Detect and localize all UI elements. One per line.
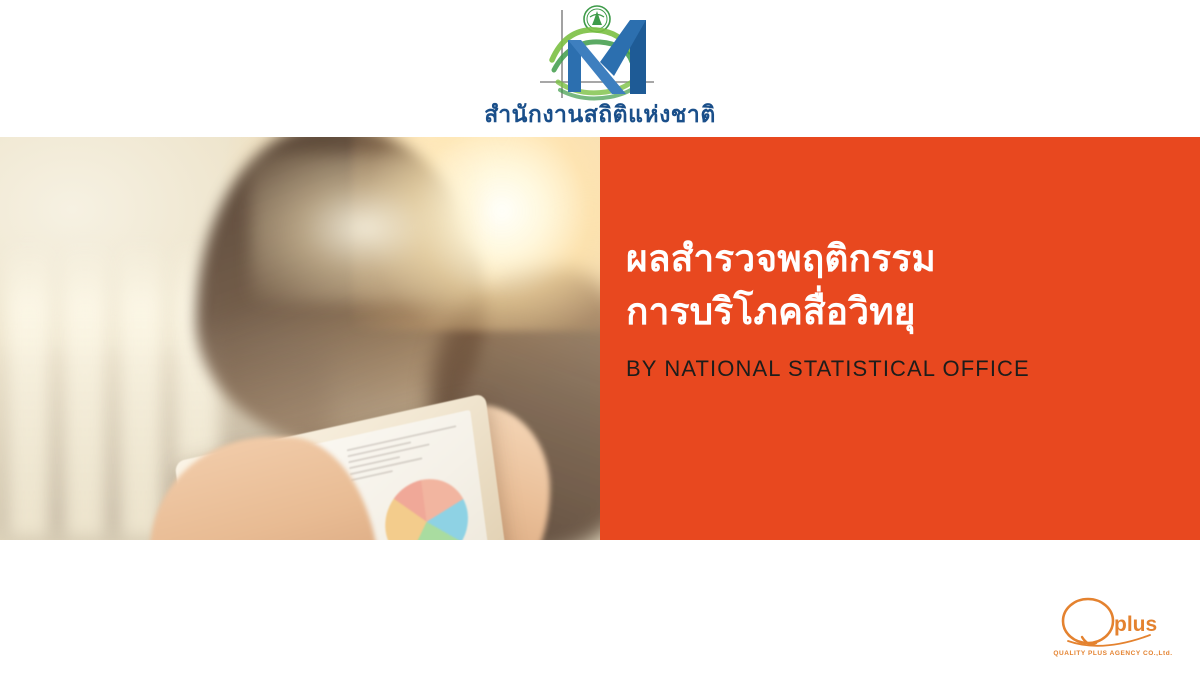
photo-sun-flare [250,153,480,303]
title-line-1: ผลสำรวจพฤติกรรม [626,233,1200,286]
title-line-2: การบริโภคสื่อวิทยุ [626,286,1200,339]
photo-blur-column [6,240,52,540]
title-subtitle: BY NATIONAL STATISTICAL OFFICE [626,356,1200,382]
nso-logo-wordmark: สำนักงานสถิติแห่งชาติ [484,104,716,127]
svg-text:plus: plus [1114,613,1157,636]
title-panel: ผลสำรวจพฤติกรรม การบริโภคสื่อวิทยุ BY NA… [600,137,1200,540]
photo-blur-column [62,240,108,540]
tablet-business-report-photo: Business Report [0,137,600,540]
nso-logo-icon [534,4,666,106]
photo-blur-column [118,240,164,540]
qplus-tagline: QUALITY PLUS AGENCY CO.,Ltd. [1044,650,1182,657]
title-slide: สำนักงานสถิติแห่งชาติ Business Report [0,0,1200,675]
tablet-data-table [347,425,461,485]
nso-logo-block: สำนักงานสถิติแห่งชาติ [0,0,1200,137]
qplus-logo: plus QUALITY PLUS AGENCY CO.,Ltd. [1044,597,1182,659]
tablet-pie-chart [380,471,473,540]
